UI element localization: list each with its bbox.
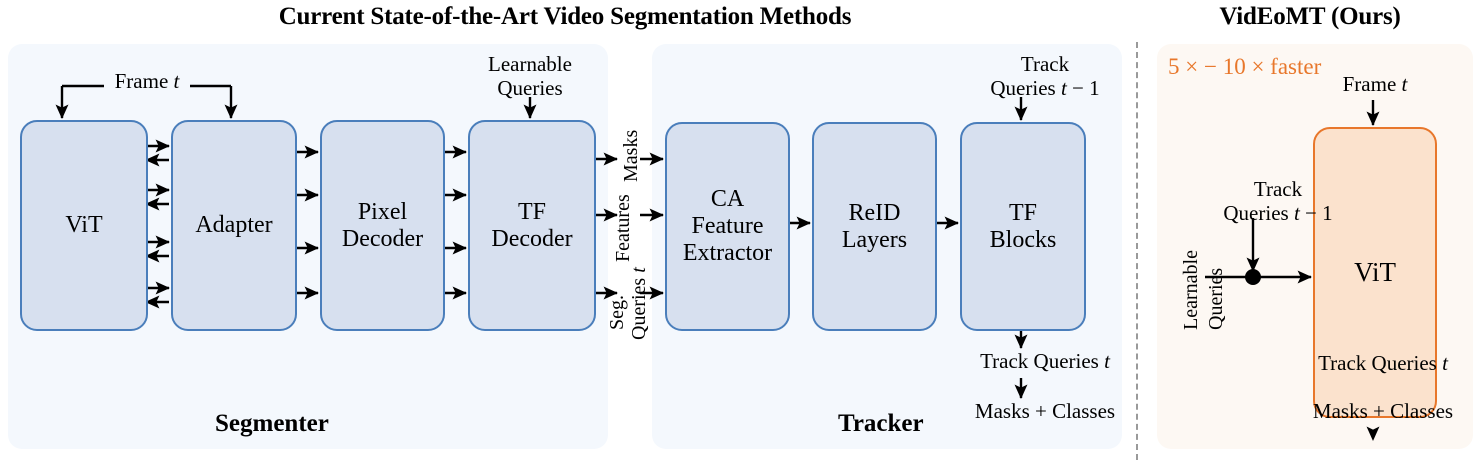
box-pixel-decoder-label: PixelDecoder bbox=[342, 199, 423, 253]
label-learnable-ours-line1: Learnable bbox=[1180, 250, 1203, 330]
box-tf-decoder[interactable]: TFDecoder bbox=[468, 120, 596, 331]
box-tf-blocks-label: TFBlocks bbox=[990, 200, 1057, 254]
page-title-left: Current State-of-the-Art Video Segmentat… bbox=[0, 3, 1130, 31]
label-frame-t-ours: Frame t bbox=[1300, 73, 1450, 97]
box-ca-feature-extractor-label: CAFeatureExtractor bbox=[683, 186, 772, 267]
label-queries-t: Queries t bbox=[628, 267, 651, 340]
label-output-masks-classes-ours: Masks + Classes bbox=[1283, 400, 1480, 424]
box-vit-ours-label: ViT bbox=[1354, 257, 1396, 287]
panel-label-tracker: Tracker bbox=[838, 410, 924, 438]
label-track-queries-tminus1: Track Queries t − 1 bbox=[955, 53, 1135, 100]
box-vit-label: ViT bbox=[65, 212, 102, 239]
label-output-track-queries-t-ours: Track Queries t bbox=[1288, 352, 1478, 376]
box-adapter[interactable]: Adapter bbox=[171, 120, 297, 331]
label-features: Features bbox=[612, 194, 635, 262]
badge-speedup: 5 × − 10 × faster bbox=[1168, 54, 1321, 80]
box-tf-blocks[interactable]: TFBlocks bbox=[960, 122, 1086, 331]
box-vit[interactable]: ViT bbox=[20, 120, 148, 331]
label-output-masks-classes: Masks + Classes bbox=[950, 400, 1140, 424]
box-reid-layers[interactable]: ReIDLayers bbox=[812, 122, 937, 331]
label-track-queries-tminus1-ours-line1: Track bbox=[1198, 178, 1358, 202]
label-frame-t: Frame t bbox=[72, 70, 222, 94]
box-adapter-label: Adapter bbox=[195, 212, 272, 239]
panel-divider bbox=[1136, 42, 1138, 460]
box-pixel-decoder[interactable]: PixelDecoder bbox=[320, 120, 445, 331]
box-reid-layers-label: ReIDLayers bbox=[842, 200, 907, 254]
label-learnable-queries-line1: Learnable bbox=[455, 53, 605, 77]
label-learnable-queries: Learnable Queries bbox=[455, 53, 605, 100]
label-output-track-queries-t: Track Queries t bbox=[955, 350, 1135, 374]
panel-label-segmenter: Segmenter bbox=[215, 410, 329, 438]
page-title-right: VidEoMT (Ours) bbox=[1140, 3, 1480, 31]
label-seg: Seg. bbox=[606, 295, 629, 330]
label-learnable-ours-line2: Queries bbox=[1205, 268, 1228, 330]
box-tf-decoder-label: TFDecoder bbox=[491, 199, 572, 253]
label-track-queries-tminus1-line1: Track bbox=[955, 53, 1135, 77]
label-masks: Masks bbox=[620, 130, 643, 182]
label-learnable-queries-line2: Queries bbox=[455, 77, 605, 101]
label-track-queries-tminus1-ours: Track Queries t − 1 bbox=[1198, 178, 1358, 225]
label-track-queries-tminus1-ours-line2: Queries t − 1 bbox=[1198, 202, 1358, 226]
label-track-queries-tminus1-line2: Queries t − 1 bbox=[955, 77, 1135, 101]
box-ca-feature-extractor[interactable]: CAFeatureExtractor bbox=[665, 122, 790, 331]
